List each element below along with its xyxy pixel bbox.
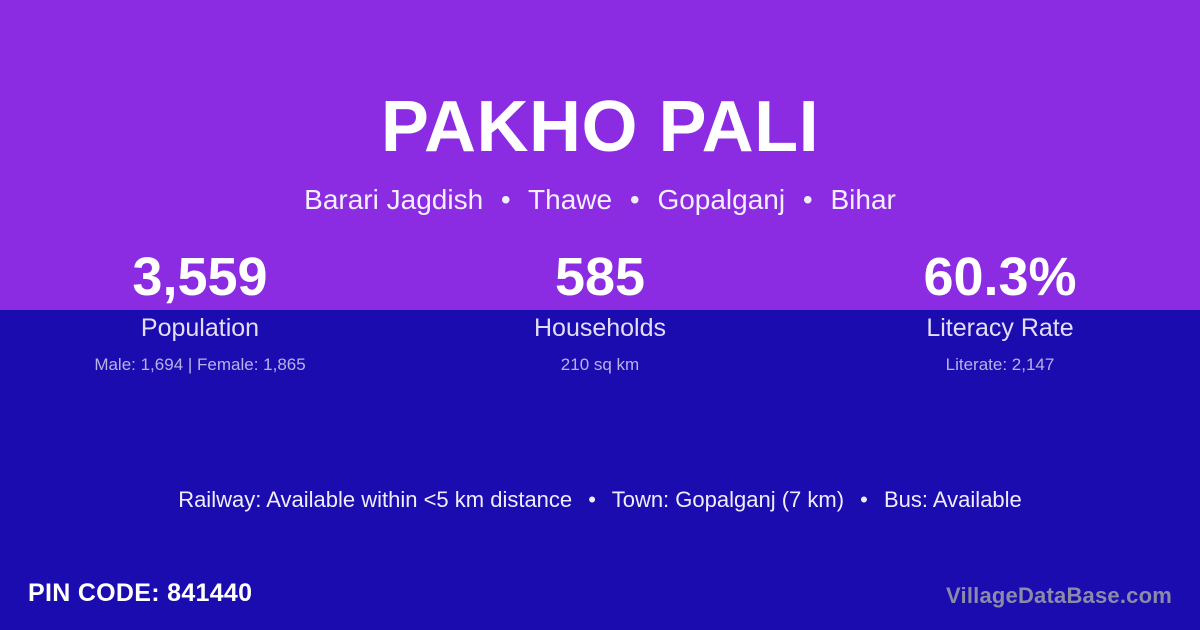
breadcrumb-panchayat: Barari Jagdish — [304, 184, 483, 215]
stat-literacy: 60.3% Literacy Rate Literate: 2,147 — [800, 244, 1200, 377]
footer: PIN CODE: 841440 VillageDataBase.com — [0, 575, 1200, 630]
stat-households-sub: 210 sq km — [400, 353, 800, 377]
breadcrumb: Barari Jagdish • Thawe • Gopalganj • Bih… — [0, 182, 1200, 218]
facilities-line: Railway: Available within <5 km distance… — [0, 485, 1200, 515]
stat-literacy-sub: Literate: 2,147 — [800, 353, 1200, 377]
breadcrumb-separator-3: • — [793, 184, 823, 215]
breadcrumb-block: Thawe — [528, 184, 612, 215]
breadcrumb-district: Gopalganj — [657, 184, 785, 215]
stats-row: 3,559 Population Male: 1,694 | Female: 1… — [0, 244, 1200, 377]
facility-town: Town: Gopalganj (7 km) — [612, 487, 844, 512]
village-info-card: PAKHO PALI Barari Jagdish • Thawe • Gopa… — [0, 0, 1200, 630]
stat-population-value: 3,559 — [0, 244, 400, 310]
stat-households-label: Households — [400, 312, 800, 344]
brand-watermark: VillageDataBase.com — [946, 582, 1172, 610]
facility-bus: Bus: Available — [884, 487, 1022, 512]
facility-separator-2: • — [850, 487, 878, 512]
breadcrumb-separator-1: • — [491, 184, 521, 215]
stat-literacy-label: Literacy Rate — [800, 312, 1200, 344]
stat-households: 585 Households 210 sq km — [400, 244, 800, 377]
facility-separator-1: • — [578, 487, 606, 512]
pin-code: PIN CODE: 841440 — [28, 577, 252, 609]
stat-literacy-value: 60.3% — [800, 244, 1200, 310]
stat-households-value: 585 — [400, 244, 800, 310]
breadcrumb-state: Bihar — [830, 184, 895, 215]
stat-population-label: Population — [0, 312, 400, 344]
facility-railway: Railway: Available within <5 km distance — [178, 487, 572, 512]
breadcrumb-separator-2: • — [620, 184, 650, 215]
page-title: PAKHO PALI — [0, 86, 1200, 168]
stat-population: 3,559 Population Male: 1,694 | Female: 1… — [0, 244, 400, 377]
stat-population-sub: Male: 1,694 | Female: 1,865 — [0, 353, 400, 377]
